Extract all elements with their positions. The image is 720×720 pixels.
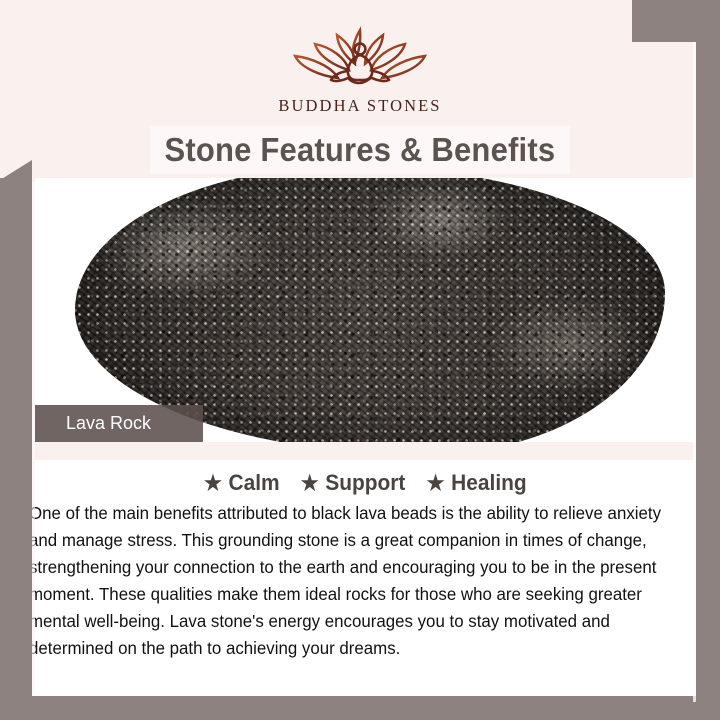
- photo-caption-text: Lava Rock: [35, 413, 151, 434]
- benefit-label: Healing: [451, 470, 526, 496]
- frame-bottom: [0, 696, 720, 720]
- photo-caption-bar: Lava Rock: [35, 405, 203, 442]
- divider-strip: [35, 442, 696, 460]
- benefit-label: Support: [325, 470, 405, 496]
- page-title: Stone Features & Benefits: [165, 131, 556, 169]
- frame-inner-line-bottom: [32, 693, 692, 696]
- brand-logo-block: BUDDHA STONES: [0, 22, 720, 116]
- benefit-item-support: ★ Support: [300, 470, 405, 496]
- rock-edge-fade: [75, 178, 665, 442]
- benefit-item-healing: ★ Healing: [426, 470, 526, 496]
- title-banner: Stone Features & Benefits: [150, 126, 570, 174]
- description-paragraph: One of the main benefits attributed to b…: [29, 496, 676, 662]
- frame-inner-line-left: [32, 182, 35, 696]
- lotus-meditation-icon: [285, 22, 435, 92]
- star-icon: ★: [426, 473, 444, 494]
- star-icon: ★: [204, 473, 222, 494]
- benefit-item-calm: ★ Calm: [204, 470, 280, 496]
- lava-rock-image: [75, 178, 665, 442]
- star-icon: ★: [300, 473, 318, 494]
- infographic-card: BUDDHA STONES Stone Features & Benefits …: [0, 0, 720, 720]
- benefit-label: Calm: [228, 470, 279, 496]
- frame-left: [0, 178, 32, 720]
- frame-right: [696, 0, 720, 720]
- stone-photo: [35, 178, 696, 442]
- frame-inner-line-right: [693, 42, 696, 702]
- content-panel: ★ Calm ★ Support ★ Healing One of the ma…: [35, 460, 696, 696]
- brand-name: BUDDHA STONES: [278, 96, 441, 116]
- benefits-row: ★ Calm ★ Support ★ Healing: [35, 460, 696, 496]
